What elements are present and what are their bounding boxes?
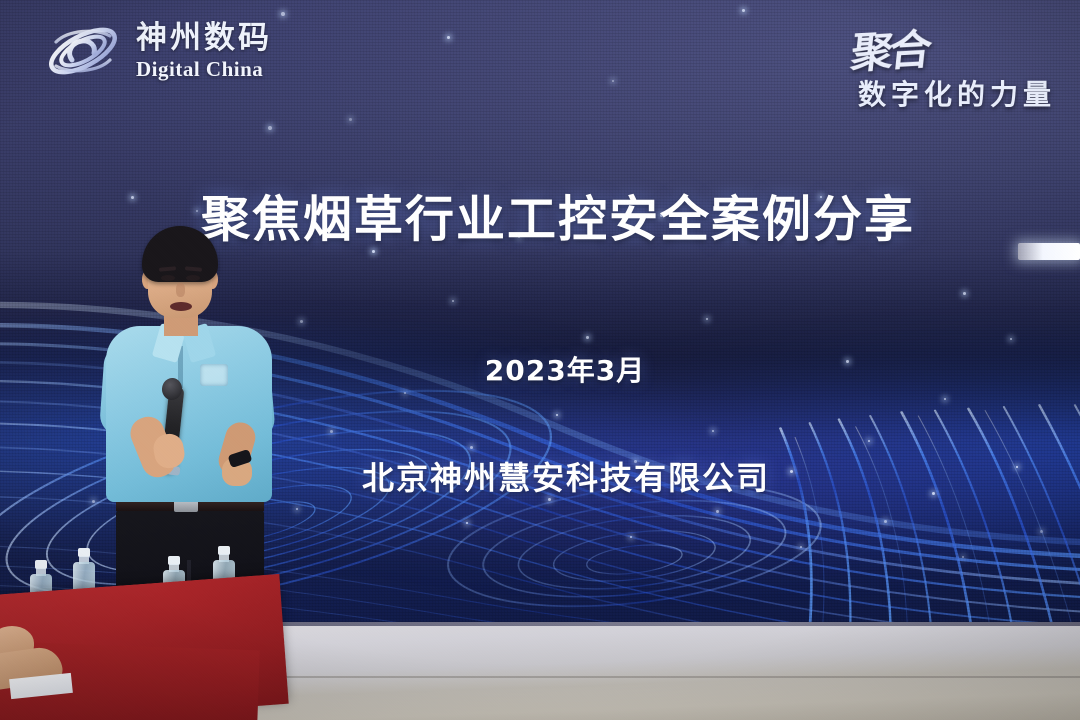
event-slogan-right: 聚合 数字化的力量 [852, 16, 1056, 113]
speaker-person [96, 226, 282, 626]
bokeh-particle [349, 118, 352, 121]
speaker-nose [176, 283, 185, 297]
bokeh-particle [612, 80, 614, 82]
brand-name-en: Digital China [136, 59, 272, 80]
conference-stage-photo: 神州数码 Digital China 聚合 数字化的力量 聚焦烟草行业工控安全案… [0, 0, 1080, 720]
speaker-mouth [170, 302, 192, 311]
foreground-attendee [0, 626, 78, 720]
screen-edge-light [1018, 243, 1080, 260]
bokeh-particle [268, 126, 272, 130]
slogan-calligraphy: 聚合 [848, 16, 931, 81]
brand-name-cn: 神州数码 [136, 23, 272, 54]
speaker-chest-logo-icon [200, 364, 228, 386]
bokeh-particle [742, 9, 745, 12]
speaker-hair [142, 226, 218, 282]
brand-logo-left: 神州数码 Digital China [44, 20, 272, 82]
speaker-eye-right [186, 275, 200, 281]
bokeh-particle [281, 12, 285, 16]
speaker-eye-left [161, 275, 175, 281]
bokeh-particle [447, 36, 450, 39]
digital-china-swirl-icon [44, 20, 122, 82]
